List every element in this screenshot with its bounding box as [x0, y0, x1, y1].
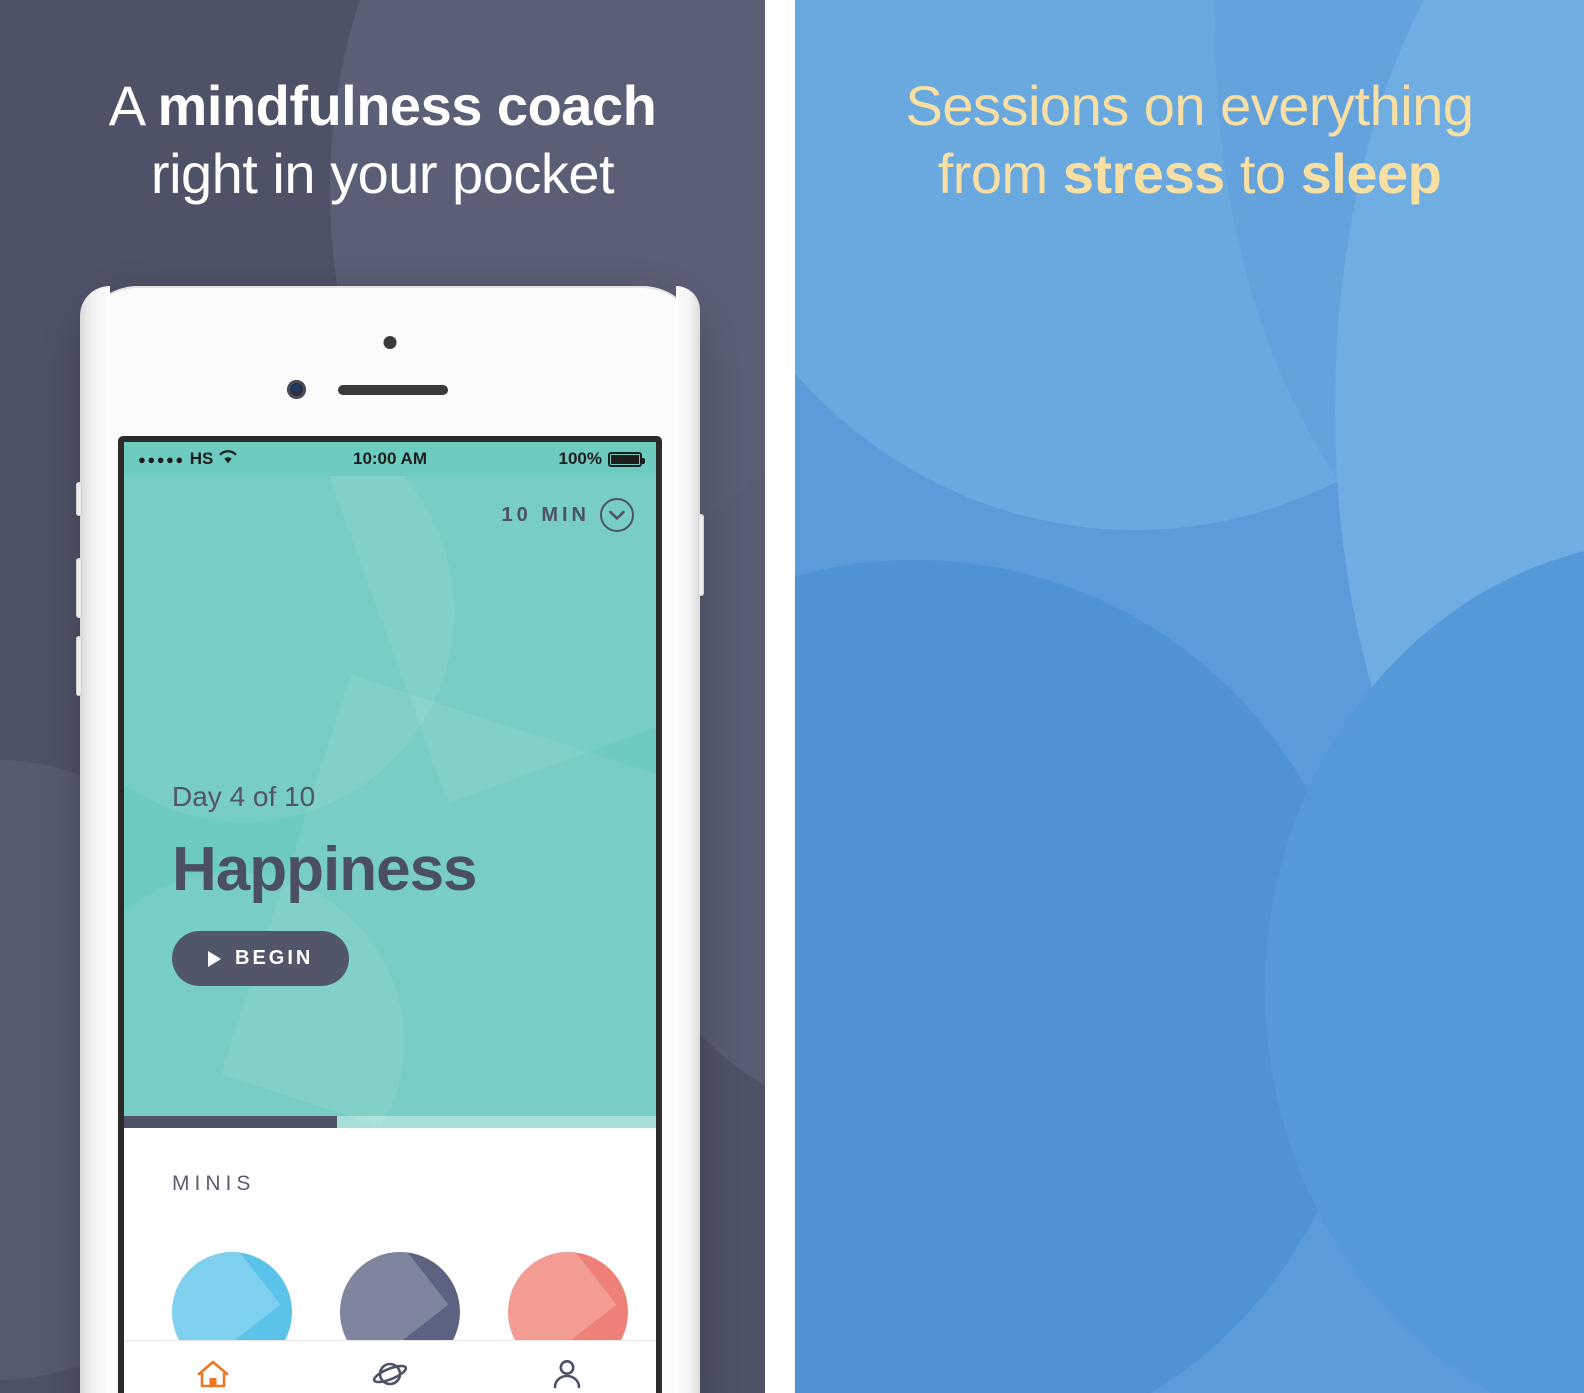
panel-divider [765, 0, 795, 1393]
headline-text-bold: sleep [1301, 142, 1442, 205]
device-edge-highlight [676, 286, 700, 1393]
left-headline: A mindfulness coach right in your pocket [0, 72, 765, 209]
volume-down-button[interactable] [76, 636, 82, 696]
begin-button-label: BEGIN [235, 947, 313, 970]
current-pack-hero: 10 MIN Day 4 of 10 Happiness [124, 442, 656, 1128]
planet-icon [372, 1359, 408, 1389]
headline-line-1: Sessions on everything [795, 72, 1584, 140]
tab-home[interactable]: Home [124, 1341, 301, 1393]
volume-up-button[interactable] [76, 558, 82, 618]
tab-discover[interactable]: Discover [301, 1341, 478, 1393]
duration-label: 10 MIN [502, 504, 590, 527]
background-blob [795, 560, 1365, 1393]
power-button[interactable] [698, 514, 704, 596]
background-blob [1265, 540, 1584, 1393]
headline-text-bold: mindfulness coach [158, 74, 657, 137]
front-camera-icon [287, 380, 306, 399]
carrier-label: HS [190, 449, 214, 469]
battery-icon [608, 452, 642, 467]
app-screen-home: ●●●●● HS 10:00 AM 100% [124, 442, 656, 1393]
headline-text-bold: stress [1063, 142, 1225, 205]
minis-section-title: MINIS [172, 1172, 656, 1196]
earpiece-speaker-icon [338, 385, 448, 395]
headline-line-2: right in your pocket [0, 140, 765, 208]
day-progress-label: Day 4 of 10 [172, 781, 477, 813]
status-bar: ●●●●● HS 10:00 AM 100% [124, 442, 656, 476]
iphone-device-left: ●●●●● HS 10:00 AM 100% [80, 286, 700, 1393]
chevron-down-icon[interactable] [600, 498, 634, 532]
right-headline: Sessions on everything from stress to sl… [795, 72, 1584, 209]
proximity-sensor-icon [384, 336, 397, 349]
left-promo-panel: A mindfulness coach right in your pocket… [0, 0, 765, 1393]
status-bar-time: 10:00 AM [304, 449, 475, 469]
duration-selector[interactable]: 10 MIN [124, 476, 656, 532]
play-icon [208, 951, 221, 967]
home-icon [196, 1359, 230, 1389]
pack-progress-bar [124, 1116, 656, 1128]
signal-strength-icon: ●●●●● [138, 452, 185, 467]
person-icon [551, 1359, 583, 1389]
pack-info: Day 4 of 10 Happiness BEGIN [172, 781, 477, 986]
headline-text-plain: to [1225, 142, 1301, 205]
headline-text-plain: from [938, 142, 1063, 205]
silent-switch[interactable] [76, 482, 82, 516]
headline-text-plain: A [109, 74, 158, 137]
tab-fred[interactable]: Fred [479, 1341, 656, 1393]
device-screen-bezel: ●●●●● HS 10:00 AM 100% [118, 436, 662, 1393]
device-edge-highlight [80, 286, 110, 1393]
pack-title: Happiness [172, 839, 477, 901]
right-promo-panel: Sessions on everything from stress to sl… [795, 0, 1584, 1393]
wifi-icon [218, 449, 238, 469]
marketing-screenshot-pair: A mindfulness coach right in your pocket… [0, 0, 1584, 1393]
bottom-tab-bar: HomeDiscoverFred [124, 1340, 656, 1393]
battery-percent-label: 100% [559, 449, 602, 469]
begin-button[interactable]: BEGIN [172, 931, 349, 986]
